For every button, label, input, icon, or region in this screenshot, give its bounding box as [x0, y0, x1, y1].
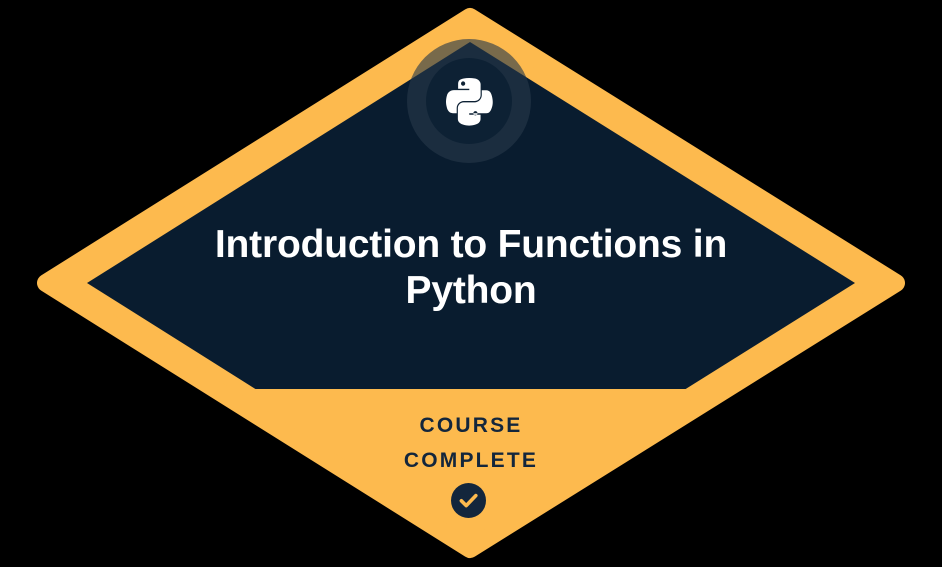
status-label-line-2: COMPLETE: [171, 443, 771, 478]
badge-stage: Introduction to Functions in Python COUR…: [0, 0, 942, 567]
logo-rings-group: [407, 39, 531, 163]
check-circle-background: [451, 483, 486, 518]
logo-ring-inner: [426, 58, 512, 144]
status-badge: COURSE COMPLETE: [171, 408, 771, 478]
page-title: Introduction to Functions in Python: [171, 222, 771, 314]
status-label-line-1: COURSE: [171, 408, 771, 443]
check-circle-icon: [451, 483, 486, 518]
